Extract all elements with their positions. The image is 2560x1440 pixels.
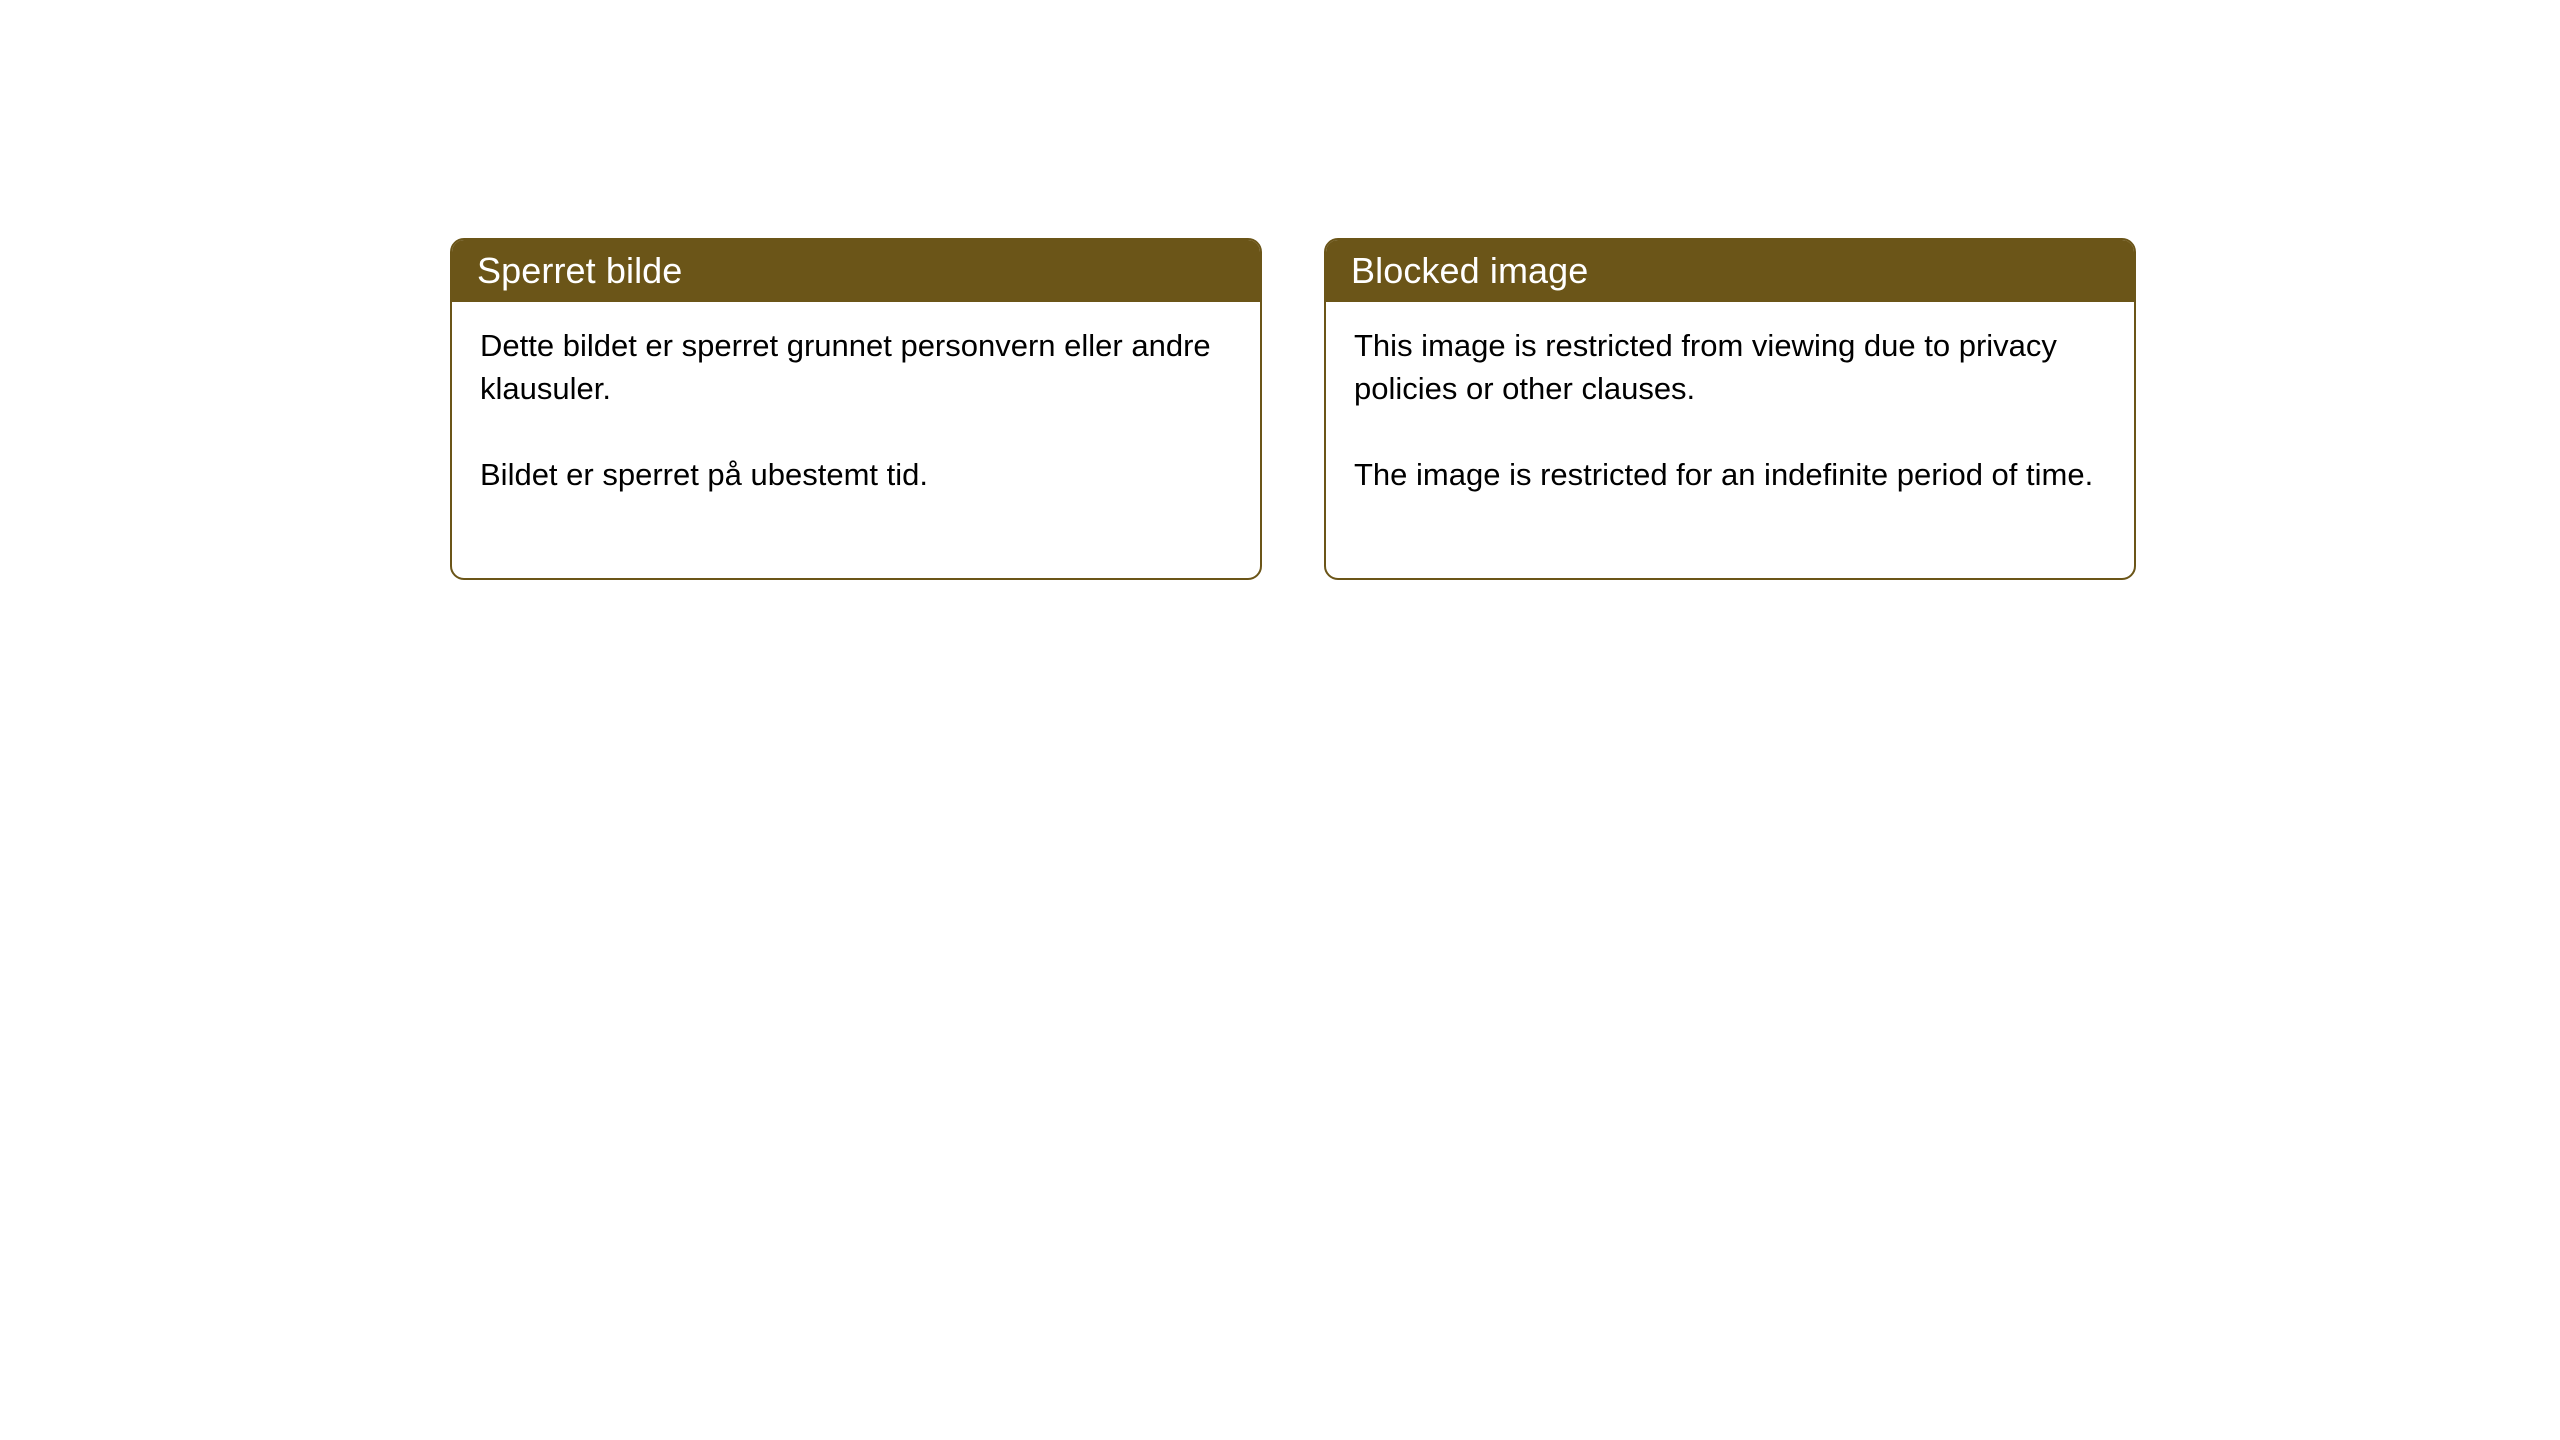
blocked-image-card-english: Blocked image This image is restricted f… [1324, 238, 2136, 580]
card-title-english: Blocked image [1351, 251, 1588, 291]
blocked-image-notice-area: Sperret bilde Dette bildet er sperret gr… [0, 0, 2560, 1440]
card-body-english: This image is restricted from viewing du… [1326, 302, 2134, 496]
card-paragraph-reason-norwegian: Dette bildet er sperret grunnet personve… [480, 324, 1236, 410]
card-paragraph-duration-english: The image is restricted for an indefinit… [1354, 453, 2110, 496]
card-header-english: Blocked image [1326, 240, 2134, 302]
card-paragraph-duration-norwegian: Bildet er sperret på ubestemt tid. [480, 453, 1236, 496]
blocked-image-card-norwegian: Sperret bilde Dette bildet er sperret gr… [450, 238, 1262, 580]
card-paragraph-reason-english: This image is restricted from viewing du… [1354, 324, 2110, 410]
card-body-norwegian: Dette bildet er sperret grunnet personve… [452, 302, 1260, 496]
card-title-norwegian: Sperret bilde [477, 251, 682, 291]
card-header-norwegian: Sperret bilde [452, 240, 1260, 302]
